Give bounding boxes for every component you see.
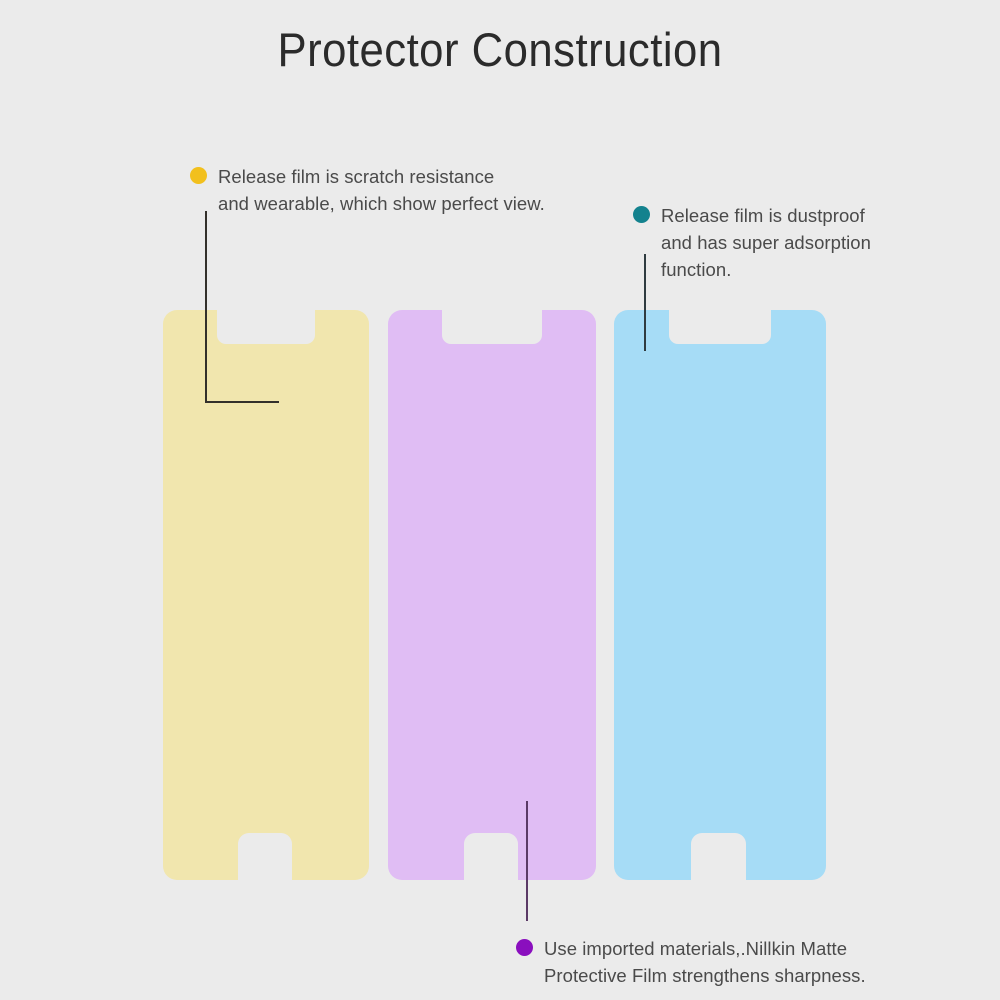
leader-line-materials — [526, 801, 528, 921]
film-body-yellow — [163, 310, 369, 880]
annotation-imported-materials: Use imported materials,.Nillkin Matte Pr… — [516, 935, 916, 989]
annotation-text-scratch: Release film is scratch resistance and w… — [218, 163, 545, 217]
leader-line-scratch-vertical — [205, 211, 207, 403]
film-top-notch-blue — [669, 309, 771, 344]
film-sheet-purple — [388, 310, 596, 880]
film-body-purple — [388, 310, 596, 880]
bullet-dot-icon-dustproof — [633, 206, 650, 223]
leader-line-scratch-horizontal — [205, 401, 279, 403]
page-title: Protector Construction — [35, 22, 965, 77]
protector-construction-diagram: Protector Construction Release film is s… — [0, 0, 1000, 1000]
film-sheet-blue — [614, 310, 826, 880]
film-bottom-notch-yellow — [238, 833, 292, 881]
film-top-notch-purple — [442, 309, 542, 344]
annotation-text-dustproof: Release film is dustproof and has super … — [661, 202, 871, 283]
film-sheet-yellow — [163, 310, 369, 880]
bullet-dot-icon-materials — [516, 939, 533, 956]
film-top-notch-yellow — [217, 309, 316, 344]
annotation-scratch-resistance: Release film is scratch resistance and w… — [190, 163, 590, 217]
film-bottom-notch-blue — [691, 833, 746, 881]
bullet-dot-icon-scratch — [190, 167, 207, 184]
annotation-dustproof: Release film is dustproof and has super … — [633, 202, 923, 283]
annotation-text-materials: Use imported materials,.Nillkin Matte Pr… — [544, 935, 866, 989]
film-body-blue — [614, 310, 826, 880]
film-bottom-notch-purple — [464, 833, 518, 881]
